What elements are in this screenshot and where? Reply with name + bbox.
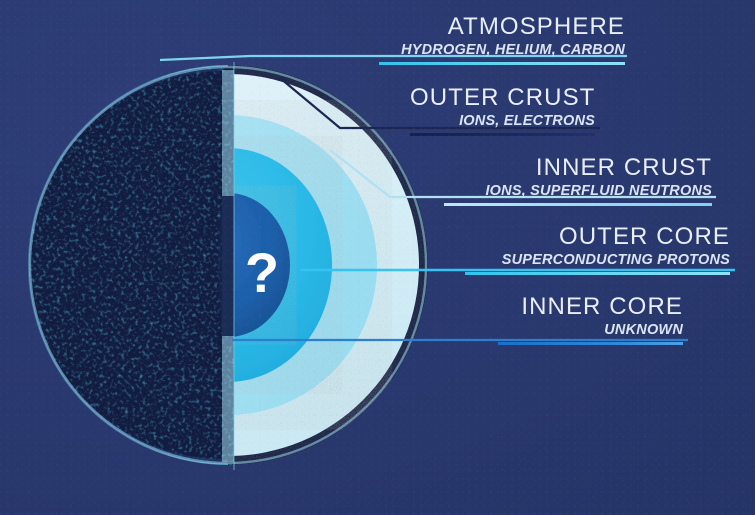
label-outer-core: OUTER CORE SUPERCONDUCTING PROTONS	[465, 224, 730, 275]
label-outer-crust-rule	[410, 133, 595, 136]
label-inner-core-title: INNER CORE	[498, 294, 683, 319]
label-outer-crust: OUTER CRUST IONS, ELECTRONS	[410, 85, 595, 136]
figure-canvas: ? ATMOSPHERE HYDROGEN, HELIUM, CARBON OU…	[0, 0, 755, 515]
label-inner-crust-rule	[444, 203, 712, 206]
label-outer-core-rule	[465, 272, 730, 275]
label-inner-crust-subtitle: IONS, SUPERFLUID NEUTRONS	[444, 182, 712, 200]
label-inner-core-rule	[498, 342, 683, 345]
unknown-core-question-mark: ?	[245, 241, 279, 304]
label-outer-core-title: OUTER CORE	[465, 224, 730, 249]
label-atmosphere-title: ATMOSPHERE	[379, 14, 625, 39]
label-outer-crust-subtitle: IONS, ELECTRONS	[410, 112, 595, 130]
label-inner-crust: INNER CRUST IONS, SUPERFLUID NEUTRONS	[444, 155, 712, 206]
label-outer-core-subtitle: SUPERCONDUCTING PROTONS	[465, 251, 730, 269]
label-atmosphere-subtitle: HYDROGEN, HELIUM, CARBON	[379, 41, 625, 59]
label-atmosphere-rule	[379, 62, 625, 65]
label-inner-core: INNER CORE UNKNOWN	[498, 294, 683, 345]
label-outer-crust-title: OUTER CRUST	[410, 85, 595, 110]
label-inner-core-subtitle: UNKNOWN	[498, 321, 683, 339]
label-atmosphere: ATMOSPHERE HYDROGEN, HELIUM, CARBON	[379, 14, 625, 65]
label-inner-crust-title: INNER CRUST	[444, 155, 712, 180]
